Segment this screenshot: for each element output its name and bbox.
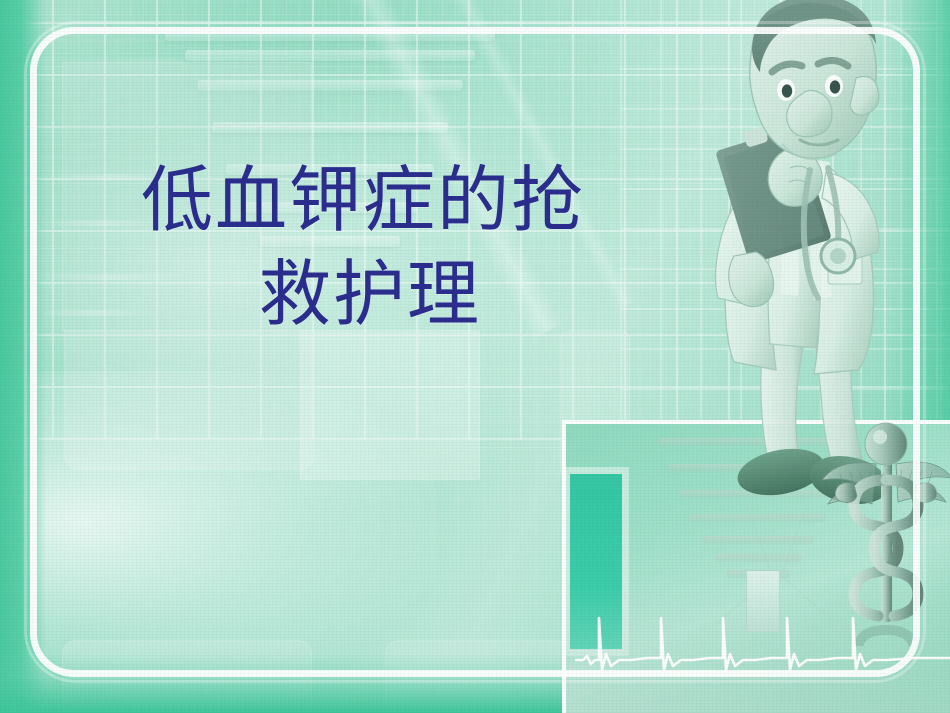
page-title: 低血钾症的抢 救护理 [0, 155, 700, 342]
title-line-2: 救护理 [0, 249, 700, 343]
frame-outer-glow [24, 21, 926, 683]
title-line-1: 低血钾症的抢 [0, 155, 700, 249]
title-slide: 低血钾症的抢 救护理 [0, 0, 950, 713]
